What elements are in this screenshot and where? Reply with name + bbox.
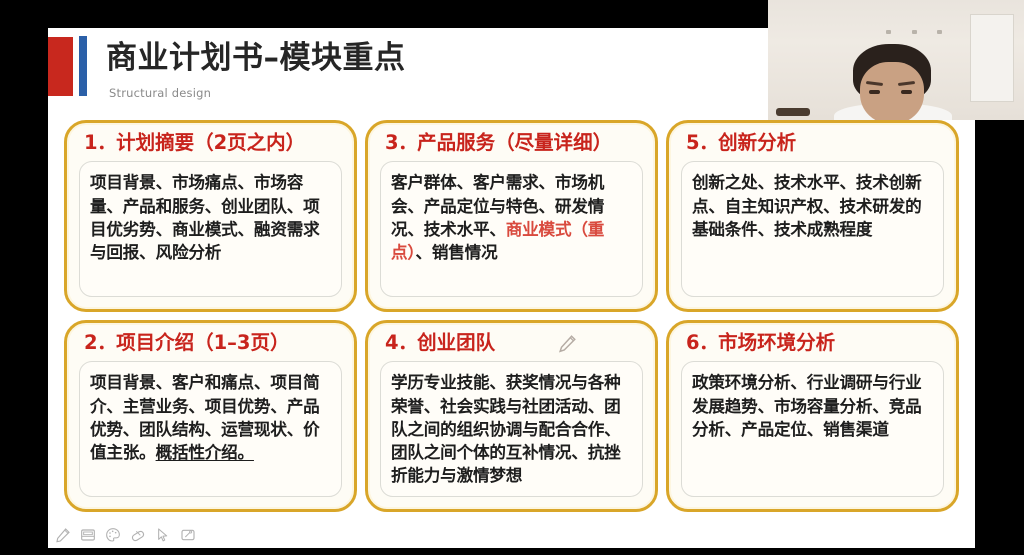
module-card-6-heading: 市场环境分析 xyxy=(718,331,835,354)
module-card-2-title: 2．项目介绍（1–3页） xyxy=(79,332,342,354)
webcam-whiteboard xyxy=(970,14,1014,102)
webcam-person-eye-left xyxy=(869,90,880,94)
webcam-person-eye-right xyxy=(901,90,912,94)
header-red-accent-block xyxy=(48,37,73,96)
module-card-3-body: 客户群体、客户需求、市场机会、产品定位与特色、研发情况、技术水平、商业模式（重点… xyxy=(380,161,643,297)
module-card-3-number: 3． xyxy=(385,131,417,154)
header-blue-accent-bar xyxy=(79,36,87,96)
page-title: 商业计划书–模块重点 xyxy=(106,41,406,75)
page-subtitle: Structural design xyxy=(109,86,211,100)
webcam-person-brow-left xyxy=(866,81,883,86)
module-card-4-title: 4．创业团队 xyxy=(380,332,643,354)
webcam-person-brow-right xyxy=(898,81,915,86)
presenter-webcam-overlay[interactable] xyxy=(768,0,1024,120)
module-card-2[interactable]: 2．项目介绍（1–3页） 项目背景、客户和痛点、项目简介、主营业务、项目优势、产… xyxy=(64,320,357,512)
module-card-1-title: 1．计划摘要（2页之内） xyxy=(79,132,342,154)
pen-annotation-icon xyxy=(556,333,578,355)
module-card-1-heading: 计划摘要（2页之内） xyxy=(116,131,305,154)
webcam-desk-object xyxy=(776,108,810,116)
module-card-3[interactable]: 3．产品服务（尽量详细） 客户群体、客户需求、市场机会、产品定位与特色、研发情况… xyxy=(365,120,658,312)
pointer-tool-icon[interactable] xyxy=(155,527,171,543)
webcam-person-face xyxy=(860,62,924,120)
module-card-2-body: 项目背景、客户和痛点、项目简介、主营业务、项目优势、产品优势、团队结构、运营现状… xyxy=(79,361,342,497)
module-card-4-number: 4． xyxy=(385,331,417,354)
module-card-1-number: 1． xyxy=(84,131,116,154)
module-card-5-number: 5． xyxy=(686,131,718,154)
body-segment-normal: 学历专业技能、获奖情况与各种荣誉、社会实践与社团活动、团队之间的组织协调与配合合… xyxy=(391,373,621,485)
eraser-tool-icon[interactable] xyxy=(130,527,146,543)
module-card-5[interactable]: 5．创新分析 创新之处、技术水平、技术创新点、自主知识产权、技术研发的基础条件、… xyxy=(666,120,959,312)
annotation-toolbar[interactable] xyxy=(55,527,196,543)
module-card-2-number: 2． xyxy=(84,331,116,354)
webcam-wall-dots xyxy=(886,30,942,35)
module-card-5-title: 5．创新分析 xyxy=(681,132,944,154)
body-segment-normal: 、销售情况 xyxy=(416,243,498,262)
module-card-6-number: 6． xyxy=(686,331,718,354)
module-card-1[interactable]: 1．计划摘要（2页之内） 项目背景、市场痛点、市场容量、产品和服务、创业团队、项… xyxy=(64,120,357,312)
module-card-5-heading: 创新分析 xyxy=(718,131,796,154)
module-card-2-heading: 项目介绍（1–3页） xyxy=(116,331,289,354)
pen-tool-icon[interactable] xyxy=(55,527,71,543)
module-card-grid: 1．计划摘要（2页之内） 项目背景、市场痛点、市场容量、产品和服务、创业团队、项… xyxy=(64,120,959,512)
module-card-5-body: 创新之处、技术水平、技术创新点、自主知识产权、技术研发的基础条件、技术成熟程度 xyxy=(681,161,944,297)
body-segment-normal: 创新之处、技术水平、技术创新点、自主知识产权、技术研发的基础条件、技术成熟程度 xyxy=(692,173,922,238)
body-segment-underline: 概括性介绍。 xyxy=(156,443,254,462)
screen-share-stage: 商业计划书–模块重点 Structural design 1．计划摘要（2页之内… xyxy=(0,0,1024,555)
module-card-4-body: 学历专业技能、获奖情况与各种荣誉、社会实践与社团活动、团队之间的组织协调与配合合… xyxy=(380,361,643,497)
body-segment-normal: 政策环境分析、行业调研与行业发展趋势、市场容量分析、竞品分析、产品定位、销售渠道 xyxy=(692,373,922,438)
body-segment-normal: 项目背景、市场痛点、市场容量、产品和服务、创业团队、项目优劣势、商业模式、融资需… xyxy=(90,173,320,262)
laser-screen-tool-icon[interactable] xyxy=(180,527,196,543)
palette-tool-icon[interactable] xyxy=(105,527,121,543)
module-card-6-body: 政策环境分析、行业调研与行业发展趋势、市场容量分析、竞品分析、产品定位、销售渠道 xyxy=(681,361,944,497)
shape-tool-icon[interactable] xyxy=(80,527,96,543)
module-card-6-title: 6．市场环境分析 xyxy=(681,332,944,354)
module-card-1-body: 项目背景、市场痛点、市场容量、产品和服务、创业团队、项目优劣势、商业模式、融资需… xyxy=(79,161,342,297)
module-card-4-heading: 创业团队 xyxy=(417,331,495,354)
module-card-3-heading: 产品服务（尽量详细） xyxy=(417,131,612,154)
module-card-4[interactable]: 4．创业团队 学历专业技能、获奖情况与各种荣誉、社会实践与社团活动、团队之间的组… xyxy=(365,320,658,512)
module-card-3-title: 3．产品服务（尽量详细） xyxy=(380,132,643,154)
module-card-6[interactable]: 6．市场环境分析 政策环境分析、行业调研与行业发展趋势、市场容量分析、竞品分析、… xyxy=(666,320,959,512)
